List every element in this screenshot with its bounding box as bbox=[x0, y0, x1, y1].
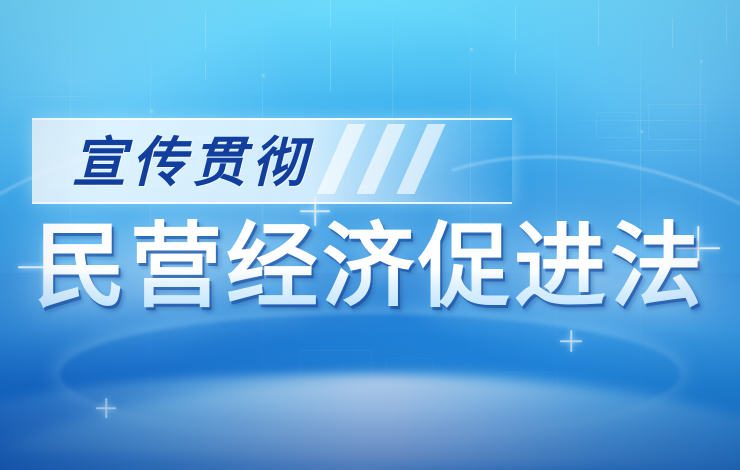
main-title: 民营经济促进法 bbox=[0, 218, 740, 315]
headline-group: 宣传贯彻 民营经济促进法 民营经济促进法 bbox=[0, 0, 740, 470]
sub-title-banner: 宣传贯彻 bbox=[32, 118, 512, 200]
sub-title-text: 宣传贯彻 bbox=[72, 118, 312, 197]
promo-banner: 宣传贯彻 民营经济促进法 民营经济促进法 bbox=[0, 0, 740, 470]
double-chevron-icon bbox=[314, 124, 454, 194]
